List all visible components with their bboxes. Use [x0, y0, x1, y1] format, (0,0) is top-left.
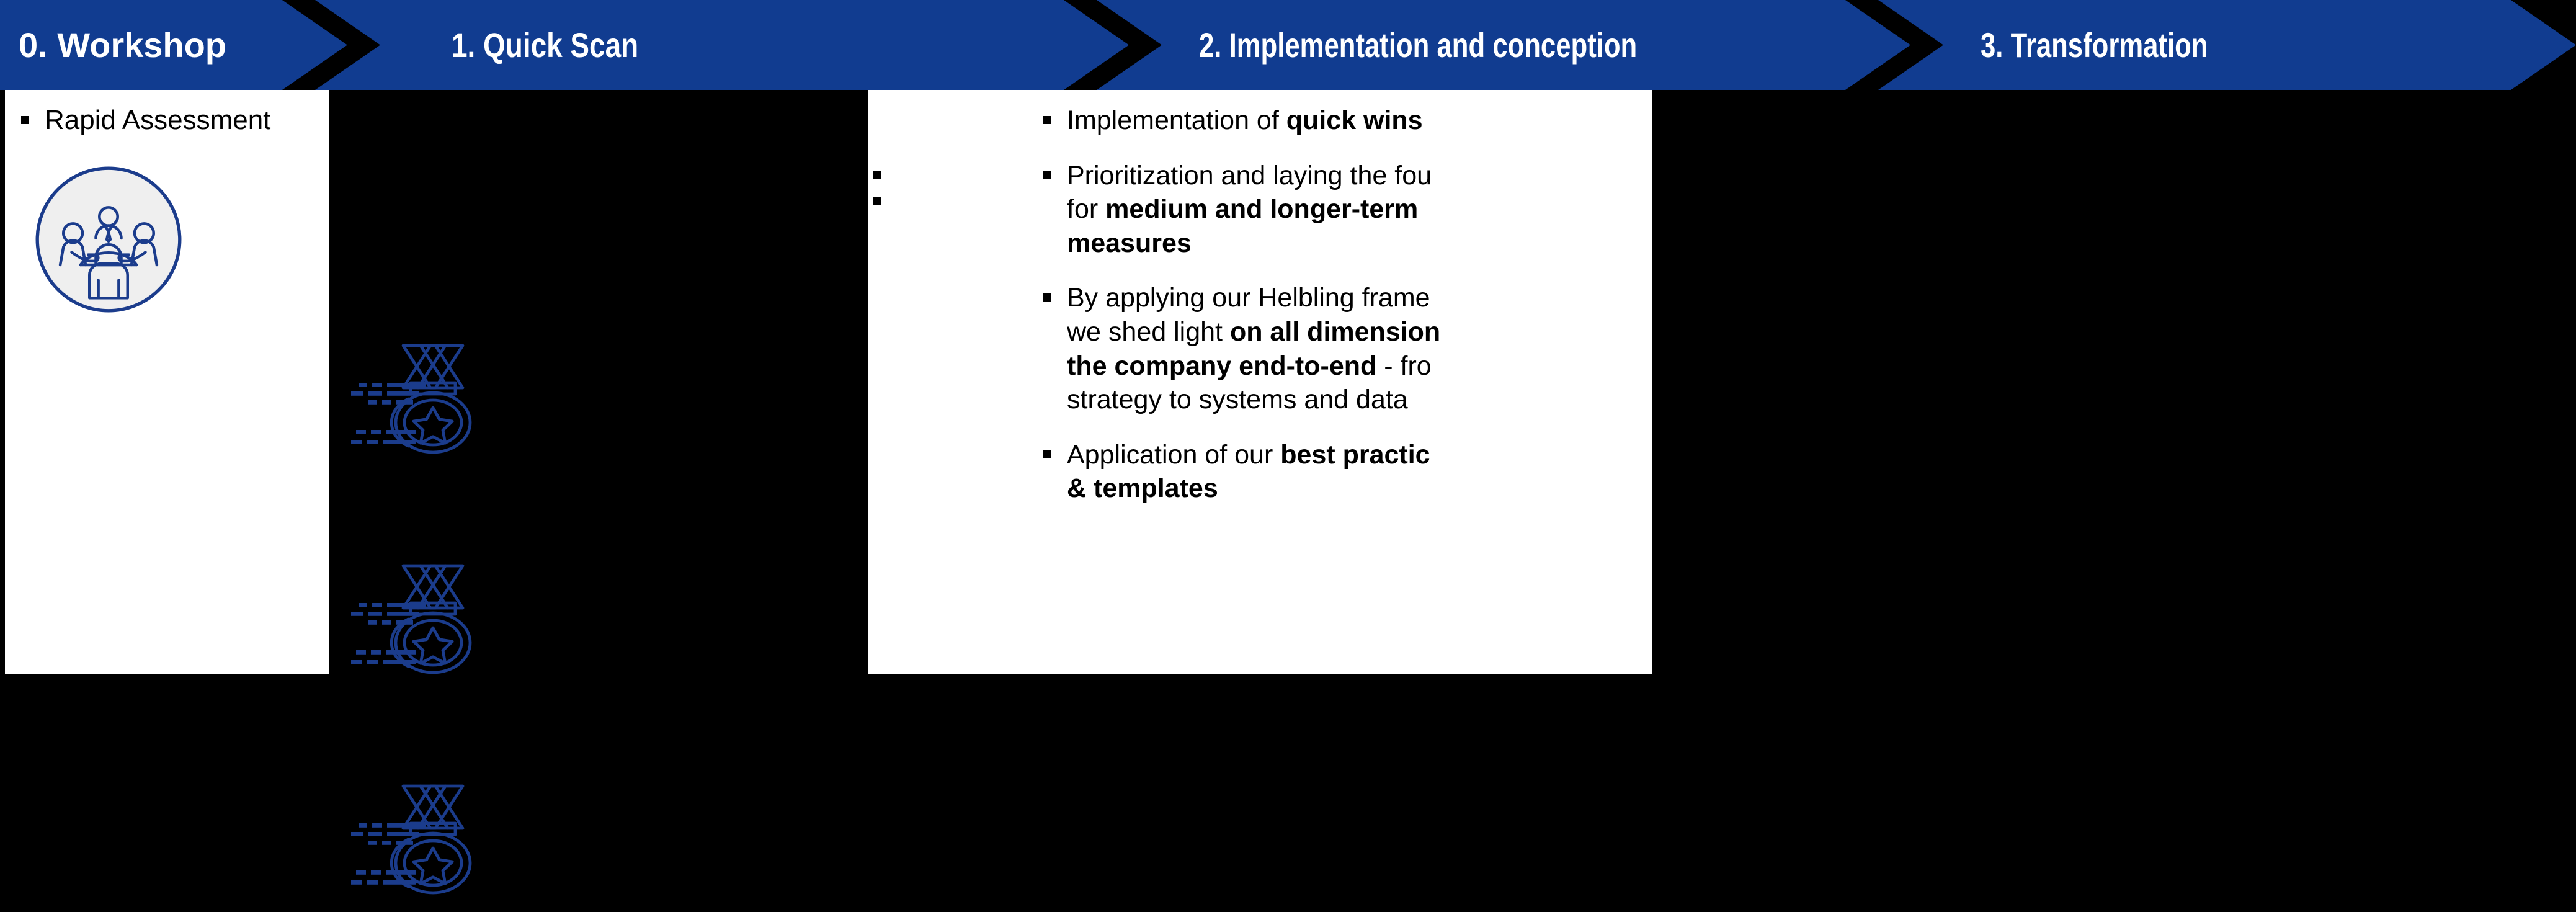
emphasis-text: quick wins: [1286, 105, 1423, 135]
bullet-line: the company end-to-end - fro: [1067, 349, 1652, 383]
emphasis-text: on all dimension: [1230, 317, 1440, 347]
body-text: Application of our: [1067, 440, 1280, 470]
bullet-line: strategy to systems and data: [1067, 383, 1652, 417]
body-text: for: [1067, 194, 1105, 224]
step-3-transformation[interactable]: 3. Transformation: [1878, 0, 2576, 90]
workshop-bullet-list: Rapid Assessment: [16, 104, 318, 137]
body-text: Implementation of: [1067, 105, 1286, 135]
bullet-line: for medium and longer-term: [1067, 192, 1652, 226]
body-text: - fro: [1376, 351, 1431, 381]
quick-scan-icon-stack: [335, 90, 521, 674]
bullet-line: By applying our Helbling frame: [1067, 281, 1652, 315]
workshop-roundtable-icon: [32, 163, 318, 319]
content-area: Rapid Assessment: [0, 90, 2576, 689]
medal-icon: [349, 779, 507, 912]
list-item: Prioritization and laying the foufor med…: [1038, 159, 1652, 261]
clipped-line-4: tegy: [868, 266, 1027, 300]
implementation-card: Implementation of quick winsPrioritizati…: [1030, 90, 1652, 674]
clipped-line-1: ck wins: [868, 104, 1027, 138]
medal-icon: [349, 558, 507, 692]
emphasis-text: the company end-to-end: [1067, 351, 1376, 381]
bullet-square-icon: [873, 197, 881, 205]
clipped-line-2: hout: [868, 138, 1027, 172]
bullet-square-icon: [873, 171, 881, 179]
list-item: Application of our best practic& templat…: [1038, 438, 1652, 506]
emphasis-text: & templates: [1067, 473, 1218, 503]
list-item: By applying our Helbling framewe shed li…: [1038, 281, 1652, 416]
bullet-line: & templates: [1067, 472, 1652, 506]
quick-scan-text: ck wins hout nition of tegy es: [868, 90, 1027, 361]
step-0-label: 0. Workshop: [19, 28, 226, 63]
step-3-label: 3. Transformation: [1981, 28, 2208, 63]
bullet-line: measures: [1067, 226, 1652, 261]
body-text: By applying our Helbling frame: [1067, 283, 1430, 313]
emphasis-text: measures: [1067, 228, 1192, 258]
clipped-line-5: es: [868, 327, 1027, 361]
bullet-line: Prioritization and laying the fou: [1067, 159, 1652, 193]
process-step-header: 0. Workshop 1. Quick Scan 2. Implementat…: [0, 0, 2576, 90]
quick-scan-text-card: ck wins hout nition of tegy es: [868, 90, 1030, 674]
spacer: [868, 179, 1027, 197]
bullet-line: Implementation of quick wins: [1067, 104, 1652, 138]
step-1-quick-scan[interactable]: 1. Quick Scan: [315, 0, 1129, 90]
list-item: Implementation of quick wins: [1038, 104, 1652, 138]
spacer: [868, 300, 1027, 327]
medal-icon: [349, 338, 507, 472]
body-text: Prioritization and laying the fou: [1067, 161, 1432, 190]
body-text: we shed light: [1067, 317, 1230, 347]
bullet-line: Application of our best practic: [1067, 438, 1652, 472]
workshop-card: Rapid Assessment: [5, 90, 329, 674]
body-text: strategy to systems and data: [1067, 385, 1408, 414]
emphasis-text: medium and longer-term: [1105, 194, 1418, 224]
bullet-line: we shed light on all dimension: [1067, 315, 1652, 349]
list-item: Rapid Assessment: [16, 104, 318, 137]
step-2-label: 2. Implementation and conception: [1199, 28, 1637, 63]
step-1-label: 1. Quick Scan: [452, 28, 638, 63]
workshop-bullet-text: Rapid Assessment: [45, 105, 270, 135]
clipped-line-3: nition of: [868, 232, 1027, 266]
spacer: [868, 205, 1027, 232]
implementation-bullet-list: Implementation of quick winsPrioritizati…: [1038, 104, 1652, 506]
slide-canvas: 0. Workshop 1. Quick Scan 2. Implementat…: [0, 0, 2576, 689]
emphasis-text: best practic: [1280, 440, 1430, 470]
step-0-workshop[interactable]: 0. Workshop: [0, 0, 347, 90]
step-2-implementation-and-conception[interactable]: 2. Implementation and conception: [1097, 0, 1910, 90]
